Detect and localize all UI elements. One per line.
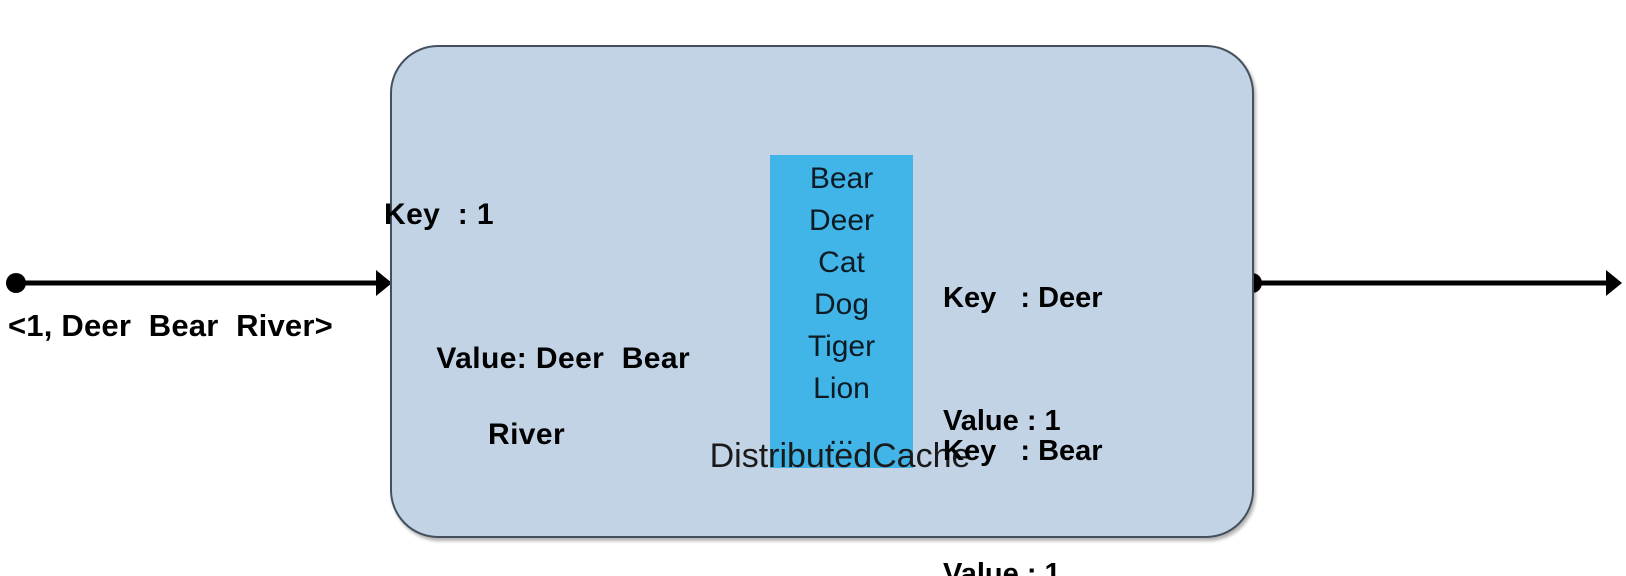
list-item: Tiger [770,326,913,368]
list-item: Cat [770,242,913,284]
output-record-2: Key : Bear Value : 1 [943,349,1103,576]
list-item: Lion [770,368,913,410]
distributed-cache-entry-list: Bear Deer Cat Dog Tiger Lion ... [770,158,913,450]
list-item: Deer [770,200,913,242]
list-item: Bear [770,158,913,200]
output-arrow [1242,270,1622,296]
output-record-2-value: Value : 1 [943,554,1103,576]
output-arrow-head-icon [1606,270,1622,296]
input-value-line-1: Value: Deer Bear [436,342,690,375]
input-record-label: <1, Deer Bear River> [8,308,333,344]
input-key-value-block: Key : 1 Value: Deer Bear River [384,196,714,530]
output-record-1-key: Key : Deer [943,278,1103,319]
input-arrow [6,270,392,296]
diagram-canvas: <1, Deer Bear River> Key : 1 Value: Deer… [0,0,1626,576]
list-item: Dog [770,284,913,326]
input-key-line: Key : 1 [384,198,494,231]
output-record-2-key: Key : Bear [943,431,1103,472]
input-value-block: Value: Deer Bear River [384,302,714,530]
